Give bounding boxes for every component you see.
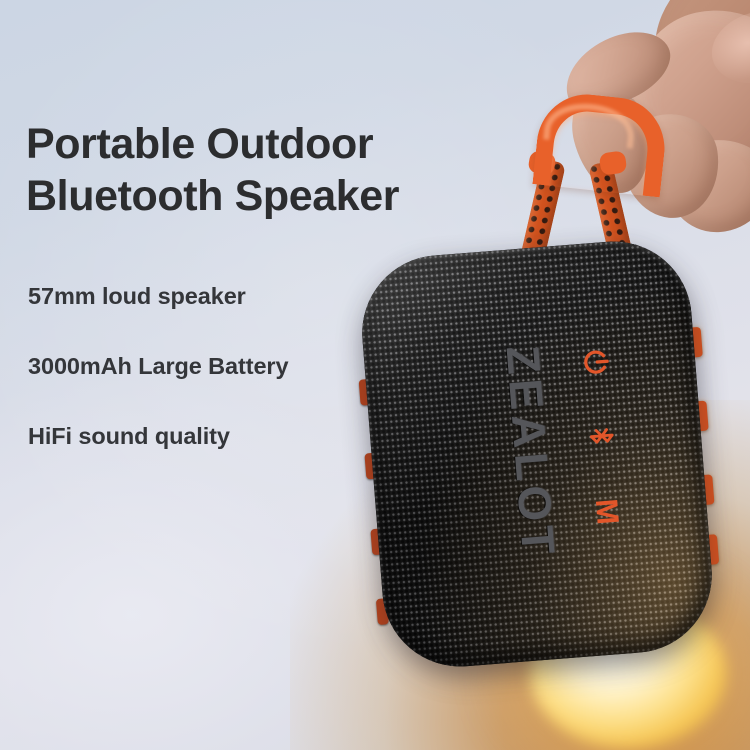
mode-button[interactable]: M bbox=[583, 487, 632, 536]
marketing-copy: Portable Outdoor Bluetooth Speaker 57mm … bbox=[26, 118, 496, 492]
list-item: HiFi sound quality bbox=[28, 422, 496, 450]
product-banner: ZEALOT M Portable Outdoor Blueto bbox=[0, 0, 750, 750]
list-item: 3000mAh Large Battery bbox=[28, 352, 496, 380]
feature-list: 57mm loud speaker 3000mAh Large Battery … bbox=[28, 282, 496, 450]
bluetooth-icon[interactable] bbox=[577, 411, 626, 460]
page-title: Portable Outdoor Bluetooth Speaker bbox=[26, 118, 496, 222]
power-icon[interactable] bbox=[571, 337, 620, 386]
list-item: 57mm loud speaker bbox=[28, 282, 496, 310]
